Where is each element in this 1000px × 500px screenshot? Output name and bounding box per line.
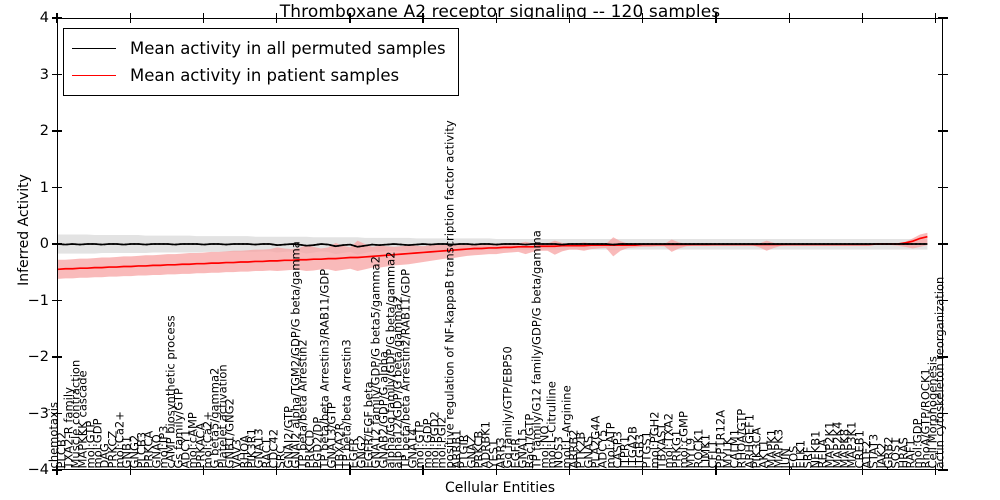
x-tick-mark [642, 470, 643, 475]
x-axis-label: Cellular Entities [0, 480, 1000, 496]
legend-line-permuted [72, 48, 116, 49]
y-tick-mark [57, 413, 62, 414]
x-tick-mark [422, 18, 423, 23]
y-tick-label: 2 [0, 123, 49, 139]
x-tick-mark [496, 470, 497, 475]
x-tick-mark [935, 18, 936, 23]
y-tick-label: 3 [0, 67, 49, 83]
x-tick-mark [276, 470, 277, 475]
y-tick-label: −3 [0, 406, 49, 422]
y-tick-mark [943, 17, 948, 18]
x-tick-mark [56, 470, 57, 475]
x-tick-mark [276, 18, 277, 23]
y-tick-mark [57, 74, 62, 75]
y-tick-mark [57, 469, 62, 470]
y-tick-mark [943, 243, 948, 244]
x-tick-mark [349, 470, 350, 475]
x-tick-mark [203, 18, 204, 23]
y-tick-mark [57, 300, 62, 301]
legend-label-patient: Mean activity in patient samples [130, 66, 399, 85]
x-tick-mark [935, 470, 936, 475]
x-tick-mark [496, 18, 497, 23]
x-tick-mark [862, 470, 863, 475]
y-tick-label: −2 [0, 349, 49, 365]
x-tick-mark [789, 18, 790, 23]
x-tick-mark [56, 18, 57, 23]
x-tick-mark [642, 18, 643, 23]
legend-label-permuted: Mean activity in all permuted samples [130, 39, 446, 58]
y-tick-mark [57, 130, 62, 131]
legend-entry: Mean activity in patient samples [72, 62, 446, 89]
x-tick-mark [715, 18, 716, 23]
legend: Mean activity in all permuted samples Me… [63, 28, 459, 96]
x-tick-mark [862, 18, 863, 23]
x-tick-mark [422, 470, 423, 475]
legend-line-patient [72, 75, 116, 76]
y-tick-mark [57, 17, 62, 18]
legend-entry: Mean activity in all permuted samples [72, 35, 446, 62]
y-tick-label: 4 [0, 10, 49, 26]
y-tick-label: 1 [0, 180, 49, 196]
y-tick-mark [943, 356, 948, 357]
y-tick-label: 0 [0, 236, 49, 252]
y-tick-mark [57, 243, 62, 244]
x-tick-mark [203, 470, 204, 475]
x-tick-mark [349, 18, 350, 23]
y-tick-mark [943, 130, 948, 131]
x-tick-mark [569, 18, 570, 23]
y-tick-mark [943, 469, 948, 470]
y-tick-mark [943, 413, 948, 414]
x-tick-mark [569, 470, 570, 475]
y-tick-label: −4 [0, 462, 49, 478]
x-tick-mark [715, 470, 716, 475]
y-tick-mark [943, 74, 948, 75]
x-tick-mark [130, 470, 131, 475]
y-tick-mark [57, 187, 62, 188]
y-tick-mark [943, 187, 948, 188]
x-tick-mark [130, 18, 131, 23]
x-tick-mark [789, 470, 790, 475]
y-tick-mark [57, 356, 62, 357]
y-tick-label: −1 [0, 293, 49, 309]
y-tick-mark [943, 300, 948, 301]
